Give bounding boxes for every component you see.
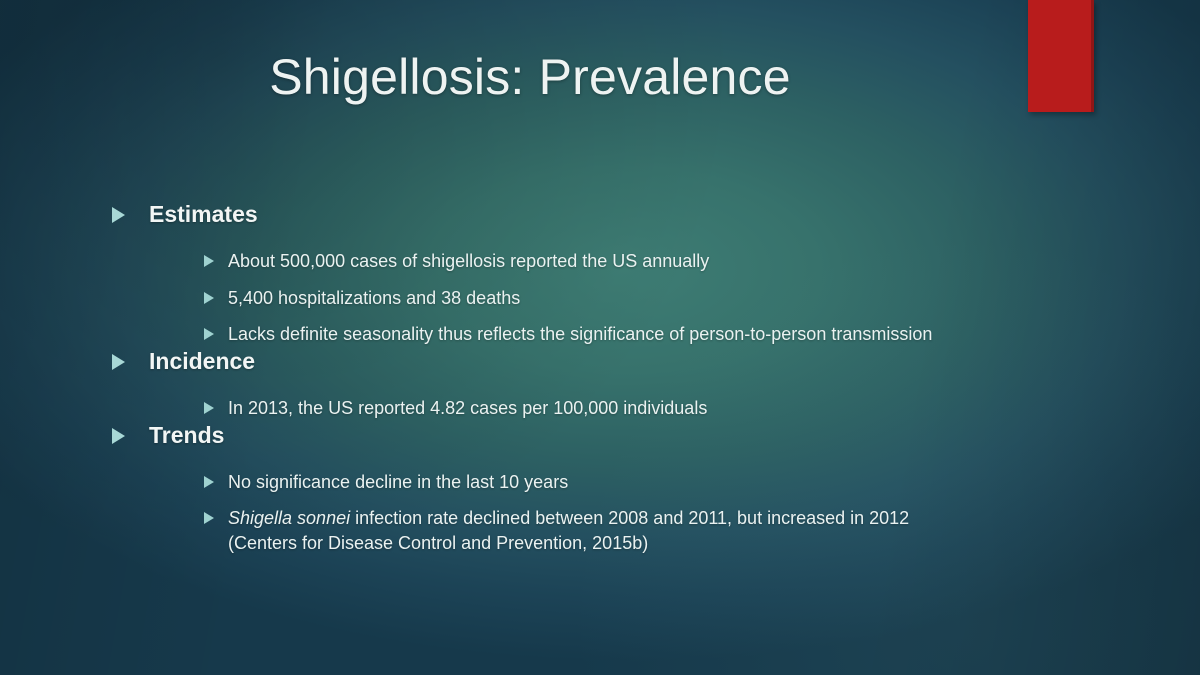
triangle-bullet-icon bbox=[204, 292, 214, 304]
section-heading-row: Estimates bbox=[112, 200, 992, 229]
section-heading-row: Trends bbox=[112, 421, 992, 450]
bullet-body: No significance decline in the last 10 y… bbox=[228, 472, 568, 492]
bullet-text: Shigella sonnei infection rate declined … bbox=[228, 506, 943, 556]
triangle-bullet-icon bbox=[112, 354, 125, 370]
bullet-text: In 2013, the US reported 4.82 cases per … bbox=[228, 396, 707, 421]
triangle-bullet-icon bbox=[204, 328, 214, 340]
section-heading: Incidence bbox=[149, 347, 255, 376]
list-item: No significance decline in the last 10 y… bbox=[204, 458, 992, 495]
triangle-bullet-icon bbox=[112, 207, 125, 223]
bullet-list: About 500,000 cases of shigellosis repor… bbox=[112, 237, 992, 347]
bullet-text: Lacks definite seasonality thus reflects… bbox=[228, 322, 932, 347]
slide: Shigellosis: Prevalence Estimates About … bbox=[0, 0, 1200, 675]
bullet-list: In 2013, the US reported 4.82 cases per … bbox=[112, 384, 992, 421]
italic-term: Shigella sonnei bbox=[228, 508, 350, 528]
bullet-body: Lacks definite seasonality thus reflects… bbox=[228, 324, 932, 344]
list-item: Shigella sonnei infection rate declined … bbox=[204, 494, 992, 556]
triangle-bullet-icon bbox=[204, 402, 214, 414]
bullet-text: 5,400 hospitalizations and 38 deaths bbox=[228, 286, 520, 311]
section-heading-row: Incidence bbox=[112, 347, 992, 376]
section-heading: Trends bbox=[149, 421, 224, 450]
section-incidence: Incidence In 2013, the US reported 4.82 … bbox=[112, 347, 992, 421]
section-heading: Estimates bbox=[149, 200, 258, 229]
bullet-body: In 2013, the US reported 4.82 cases per … bbox=[228, 398, 707, 418]
section-estimates: Estimates About 500,000 cases of shigell… bbox=[112, 200, 992, 347]
triangle-bullet-icon bbox=[204, 255, 214, 267]
section-trends: Trends No significance decline in the la… bbox=[112, 421, 992, 556]
list-item: Lacks definite seasonality thus reflects… bbox=[204, 310, 992, 347]
list-item: In 2013, the US reported 4.82 cases per … bbox=[204, 384, 992, 421]
list-item: 5,400 hospitalizations and 38 deaths bbox=[204, 274, 992, 311]
bullet-body: 5,400 hospitalizations and 38 deaths bbox=[228, 288, 520, 308]
triangle-bullet-icon bbox=[204, 476, 214, 488]
list-item: About 500,000 cases of shigellosis repor… bbox=[204, 237, 992, 274]
triangle-bullet-icon bbox=[204, 512, 214, 524]
bullet-list: No significance decline in the last 10 y… bbox=[112, 458, 992, 556]
bullet-text: About 500,000 cases of shigellosis repor… bbox=[228, 249, 709, 274]
triangle-bullet-icon bbox=[112, 428, 125, 444]
bullet-body: About 500,000 cases of shigellosis repor… bbox=[228, 251, 709, 271]
slide-body: Estimates About 500,000 cases of shigell… bbox=[112, 200, 992, 556]
accent-rectangle bbox=[1028, 0, 1094, 112]
page-title: Shigellosis: Prevalence bbox=[0, 48, 1060, 106]
bullet-text: No significance decline in the last 10 y… bbox=[228, 470, 568, 495]
